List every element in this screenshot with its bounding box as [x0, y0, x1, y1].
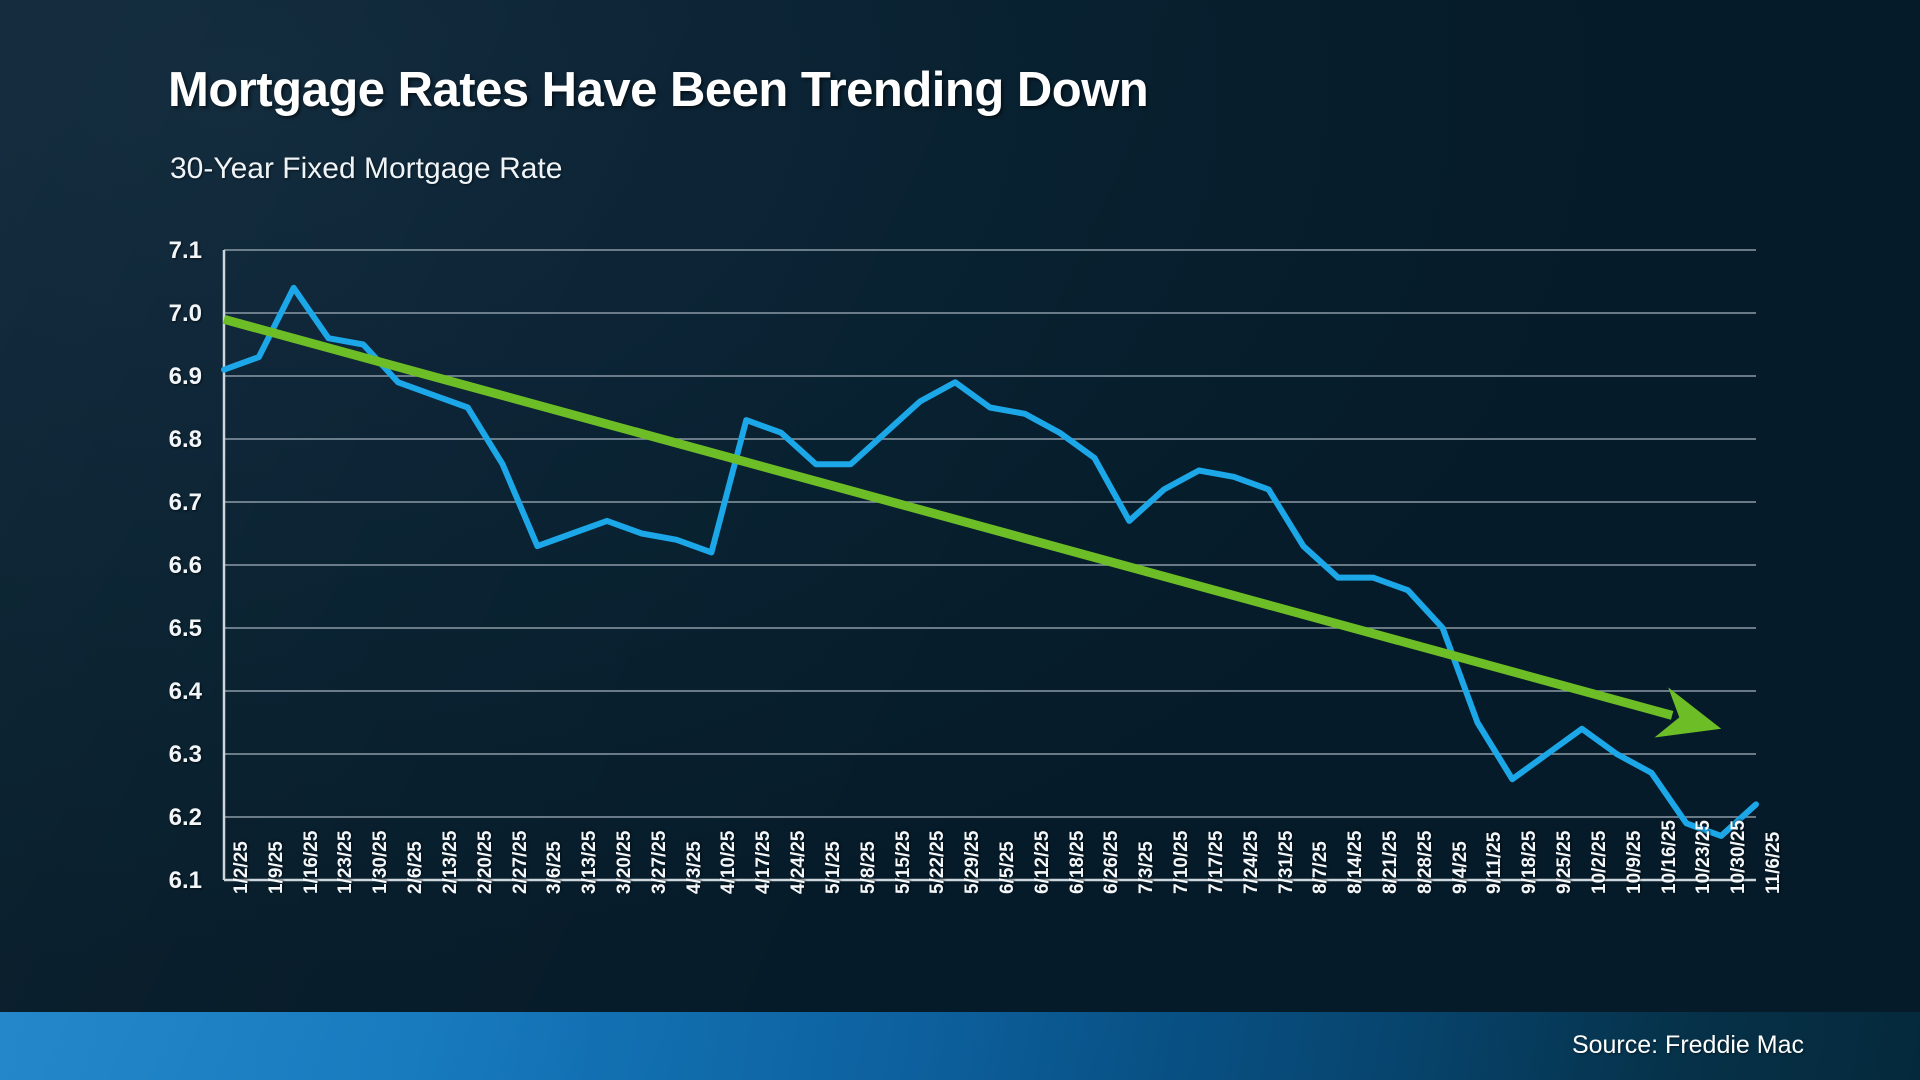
x-axis-tick-label: 6/5/25 — [997, 841, 1019, 894]
x-axis-tick-label: 3/20/25 — [614, 831, 636, 894]
x-axis-tick-label: 2/6/25 — [405, 841, 427, 894]
x-axis-tick-label: 9/4/25 — [1450, 841, 1472, 894]
y-axis-tick-label: 7.1 — [132, 237, 202, 265]
x-axis-tick-label: 6/12/25 — [1032, 831, 1054, 894]
slide-canvas: Mortgage Rates Have Been Trending Down 3… — [0, 0, 1920, 1080]
x-axis-tick-label: 5/1/25 — [823, 841, 845, 894]
gridlines — [224, 250, 1756, 880]
x-axis-tick-label: 9/18/25 — [1519, 831, 1541, 894]
x-axis-tick-label: 5/15/25 — [893, 831, 915, 894]
trend-arrow — [224, 319, 1721, 737]
x-axis-tick-label: 8/14/25 — [1345, 831, 1367, 894]
line-chart — [0, 0, 1920, 1080]
y-axis-tick-label: 6.3 — [132, 741, 202, 769]
x-axis-tick-label: 2/13/25 — [440, 831, 462, 894]
y-axis-tick-label: 6.5 — [132, 615, 202, 643]
y-axis-tick-label: 7.0 — [132, 300, 202, 328]
x-axis-tick-label: 1/23/25 — [335, 831, 357, 894]
x-axis-tick-label: 5/22/25 — [927, 831, 949, 894]
x-axis-tick-label: 2/27/25 — [510, 831, 532, 894]
x-axis-tick-label: 10/23/25 — [1693, 820, 1715, 894]
y-axis-tick-label: 6.6 — [132, 552, 202, 580]
trend-arrow-shaft — [224, 319, 1672, 715]
x-axis-tick-label: 1/2/25 — [231, 841, 253, 894]
x-axis-tick-label: 8/21/25 — [1380, 831, 1402, 894]
x-axis-tick-label: 3/13/25 — [579, 831, 601, 894]
x-axis-tick-label: 5/29/25 — [962, 831, 984, 894]
x-axis-tick-label: 7/17/25 — [1206, 831, 1228, 894]
x-axis-tick-label: 7/24/25 — [1241, 831, 1263, 894]
x-axis-tick-label: 11/6/25 — [1763, 832, 1785, 894]
y-axis-tick-label: 6.9 — [132, 363, 202, 391]
x-axis-tick-label: 4/10/25 — [718, 831, 740, 894]
x-axis-tick-label: 2/20/25 — [475, 831, 497, 894]
y-axis-tick-label: 6.4 — [132, 678, 202, 706]
x-axis-tick-label: 8/28/25 — [1415, 831, 1437, 894]
x-axis-tick-label: 10/16/25 — [1659, 820, 1681, 894]
y-axis-tick-label: 6.7 — [132, 489, 202, 517]
y-axis-tick-label: 6.8 — [132, 426, 202, 454]
y-axis-tick-label: 6.1 — [132, 867, 202, 895]
x-axis-tick-label: 4/24/25 — [788, 831, 810, 894]
x-axis-tick-label: 9/11/25 — [1484, 832, 1506, 894]
y-axis-tick-label: 6.2 — [132, 804, 202, 832]
x-axis-tick-label: 5/8/25 — [858, 841, 880, 894]
x-axis-tick-label: 10/2/25 — [1589, 831, 1611, 894]
x-axis-tick-label: 3/27/25 — [649, 831, 671, 894]
x-axis-tick-label: 7/3/25 — [1136, 841, 1158, 894]
x-axis-tick-label: 4/3/25 — [684, 841, 706, 894]
x-axis-tick-label: 7/10/25 — [1171, 831, 1193, 894]
x-axis-tick-label: 10/30/25 — [1728, 820, 1750, 894]
x-axis-tick-label: 6/18/25 — [1067, 831, 1089, 894]
x-axis-tick-label: 6/26/25 — [1101, 831, 1123, 894]
x-axis-tick-label: 8/7/25 — [1310, 841, 1332, 894]
x-axis-tick-label: 1/30/25 — [370, 831, 392, 894]
x-axis-tick-label: 1/9/25 — [266, 841, 288, 894]
x-axis-tick-label: 7/31/25 — [1276, 831, 1298, 894]
x-axis-tick-label: 1/16/25 — [301, 831, 323, 894]
x-axis-tick-label: 4/17/25 — [753, 831, 775, 894]
x-axis-tick-label: 10/9/25 — [1624, 831, 1646, 894]
footer-bar: Source: Freddie Mac — [0, 1012, 1920, 1080]
x-axis-tick-label: 3/6/25 — [544, 841, 566, 894]
source-attribution: Source: Freddie Mac — [1572, 1031, 1804, 1060]
x-axis-tick-label: 9/25/25 — [1554, 831, 1576, 894]
